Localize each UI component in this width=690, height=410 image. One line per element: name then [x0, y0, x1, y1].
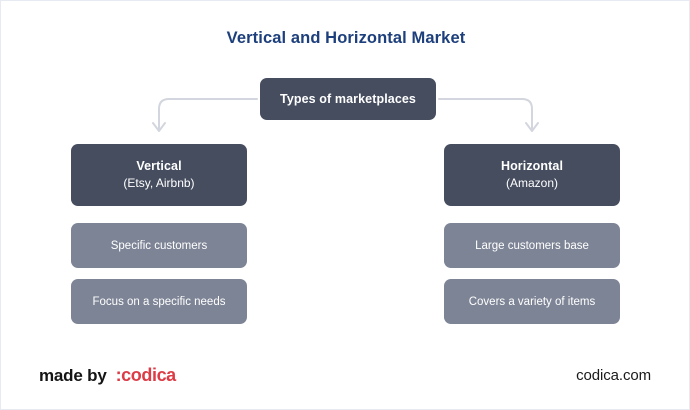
node-vertical: Vertical (Etsy, Airbnb)	[71, 144, 247, 206]
connector-right-line	[439, 99, 532, 129]
connector-right-arrowhead	[526, 123, 538, 131]
node-vertical-subtitle: (Etsy, Airbnb)	[123, 175, 194, 192]
codica-logo: :codica	[116, 365, 176, 386]
node-root: Types of marketplaces	[260, 78, 436, 120]
infographic-card: Vertical and Horizontal Market Types of …	[0, 0, 690, 410]
connector-left-line	[159, 99, 257, 129]
made-by-label: made by	[39, 366, 107, 386]
node-horizontal-leaf-1: Large customers base	[444, 223, 620, 268]
node-horizontal: Horizontal (Amazon)	[444, 144, 620, 206]
page-title: Vertical and Horizontal Market	[1, 29, 690, 48]
node-horizontal-leaf-2: Covers a variety of items	[444, 279, 620, 324]
connector-left-arrowhead	[153, 123, 165, 131]
node-vertical-leaf-1-label: Specific customers	[111, 240, 208, 252]
node-horizontal-subtitle: (Amazon)	[506, 175, 558, 192]
node-vertical-leaf-1: Specific customers	[71, 223, 247, 268]
node-vertical-title: Vertical	[136, 158, 181, 175]
node-vertical-leaf-2: Focus on a specific needs	[71, 279, 247, 324]
node-root-label: Types of marketplaces	[280, 92, 416, 106]
node-vertical-leaf-2-label: Focus on a specific needs	[93, 296, 226, 308]
node-horizontal-leaf-2-label: Covers a variety of items	[469, 296, 596, 308]
node-horizontal-leaf-1-label: Large customers base	[475, 240, 589, 252]
node-horizontal-title: Horizontal	[501, 158, 563, 175]
footer-website: codica.com	[576, 367, 651, 384]
footer-attribution: made by :codica	[39, 365, 176, 386]
